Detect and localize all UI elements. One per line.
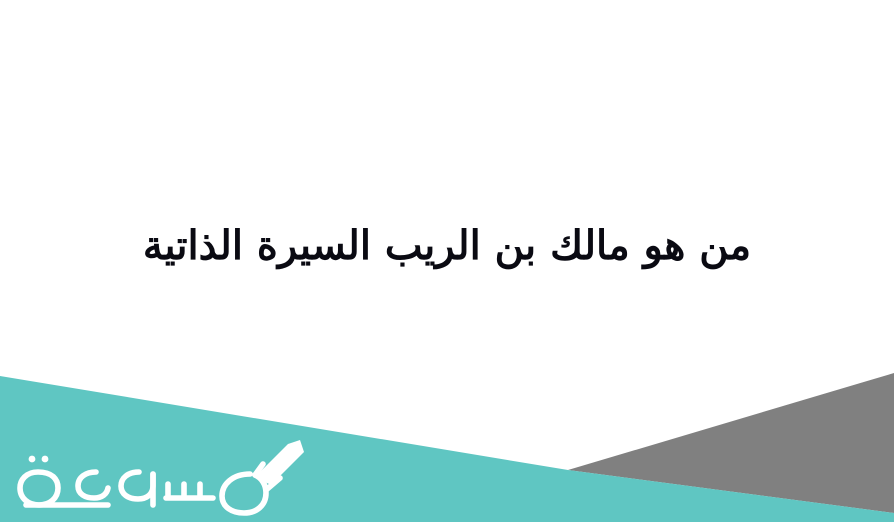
glyph-ain: [78, 472, 108, 498]
page-title-text: من هو مالك بن الريب السيرة الذاتية: [143, 222, 751, 271]
glyph-waw-small: [121, 472, 153, 499]
glyph-ta-marbuta-dots: [29, 456, 49, 463]
slide-canvas: من هو مالك بن الريب السيرة الذاتية موسوع…: [0, 0, 894, 522]
glyph-ta-marbuta: [20, 472, 58, 505]
page-title: من هو مالك بن الريب السيرة الذاتية: [0, 214, 894, 278]
gray-diagonal-wedge: [568, 373, 894, 513]
brand-logo-artwork: [8, 428, 308, 516]
brand-logo[interactable]: موسوعة: [8, 428, 308, 516]
glyph-seen: [166, 484, 213, 498]
glyph-waw-large: [222, 474, 266, 513]
